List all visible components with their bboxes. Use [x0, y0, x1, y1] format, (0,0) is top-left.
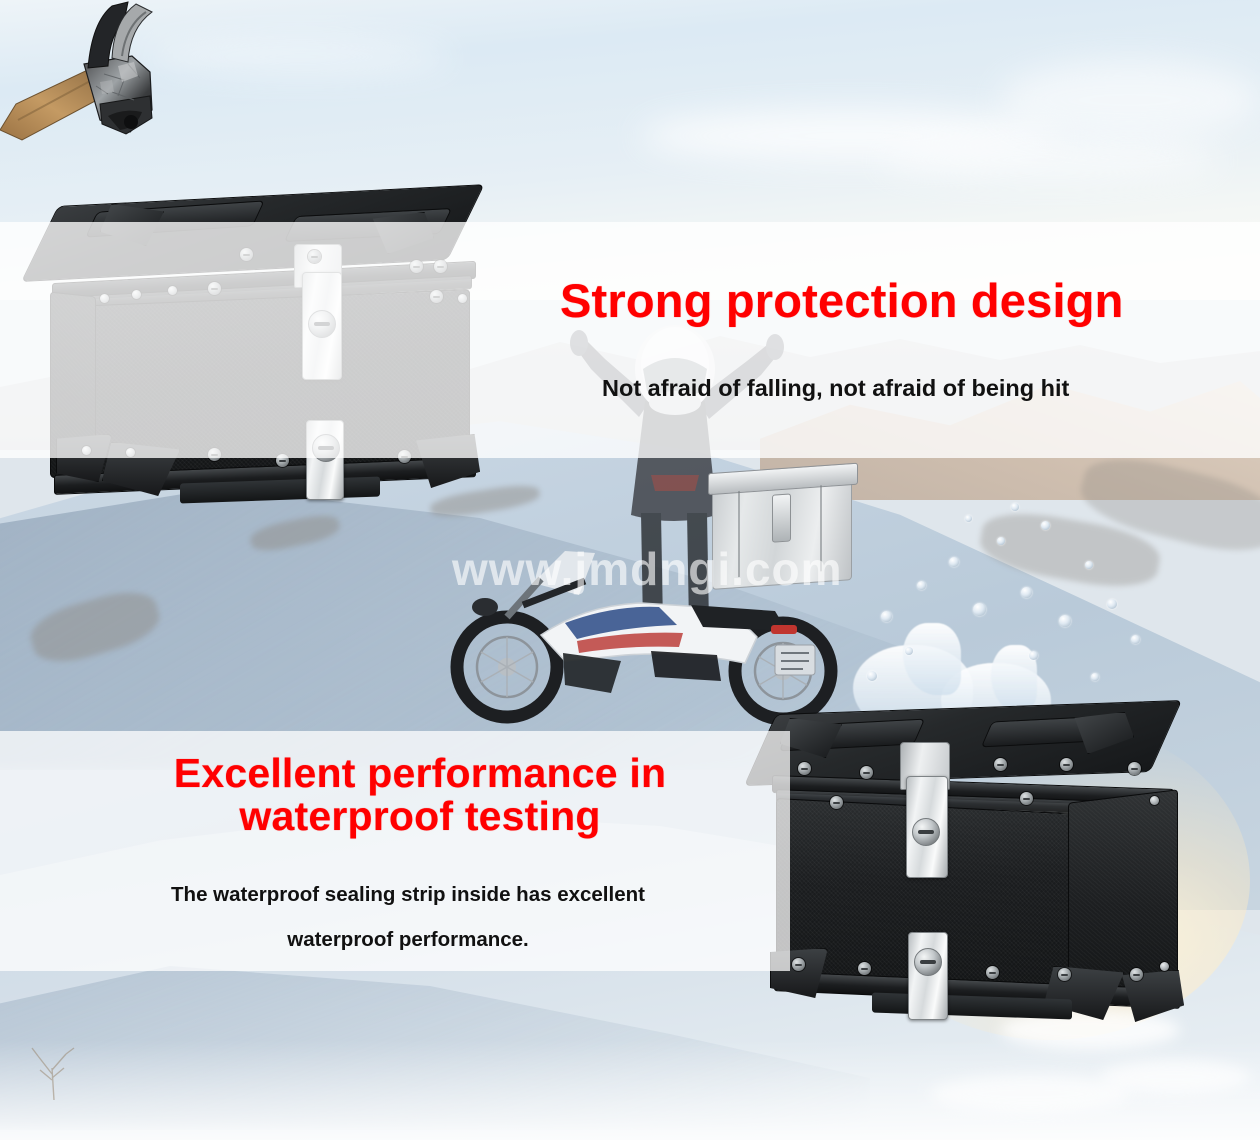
- mirror: [472, 598, 498, 616]
- bottom-subheadline: The waterproof sealing strip inside has …: [58, 872, 758, 962]
- silver-case-latch: [772, 493, 791, 542]
- cloud: [1000, 60, 1260, 140]
- case-screw: [860, 766, 873, 779]
- case-screw: [830, 796, 843, 809]
- case-screw: [1060, 758, 1073, 771]
- case-corner-guard: [1118, 970, 1184, 1022]
- case-screw: [798, 762, 811, 775]
- top-headline: Strong protection design: [560, 276, 1124, 326]
- hammer-icon: [0, 0, 240, 185]
- case-rivet: [1160, 962, 1169, 971]
- bottom-headline: Excellent performance in waterproof test…: [110, 752, 730, 839]
- water-droplet: [1011, 503, 1019, 511]
- case-screw: [986, 966, 999, 979]
- case-screw: [994, 758, 1007, 771]
- case-latch-lower: [908, 932, 948, 1020]
- case-screw: [1130, 968, 1143, 981]
- bottom-subheadline-line1: The waterproof sealing strip inside has …: [58, 872, 758, 917]
- case-screw: [792, 958, 805, 971]
- case-lock-lower: [914, 948, 942, 976]
- case-screw: [1058, 968, 1071, 981]
- case-screw: [1128, 762, 1141, 775]
- case-rivet: [1150, 796, 1159, 805]
- case-lock-upper: [912, 818, 940, 846]
- top-subheadline: Not afraid of falling, not afraid of bei…: [602, 375, 1069, 402]
- cloud: [880, 140, 1220, 180]
- shrub-icon: [20, 1040, 90, 1100]
- top-text-band: [0, 222, 1260, 458]
- bottom-subheadline-line2: waterproof performance.: [58, 917, 758, 962]
- case-screw: [1020, 792, 1033, 805]
- water-droplet: [965, 515, 972, 522]
- bottom-headline-line1: Excellent performance in: [110, 752, 730, 795]
- wheel: [457, 617, 557, 717]
- bottom-headline-line2: waterproof testing: [110, 795, 730, 838]
- product-banner: Strong protection design Not afraid of f…: [0, 0, 1260, 1140]
- top-case-lower: [762, 700, 1192, 1030]
- water-droplet: [1107, 599, 1117, 609]
- cloudlet: [930, 1075, 1130, 1113]
- watermark: www.jmdngi.com: [452, 542, 843, 596]
- case-screw: [858, 962, 871, 975]
